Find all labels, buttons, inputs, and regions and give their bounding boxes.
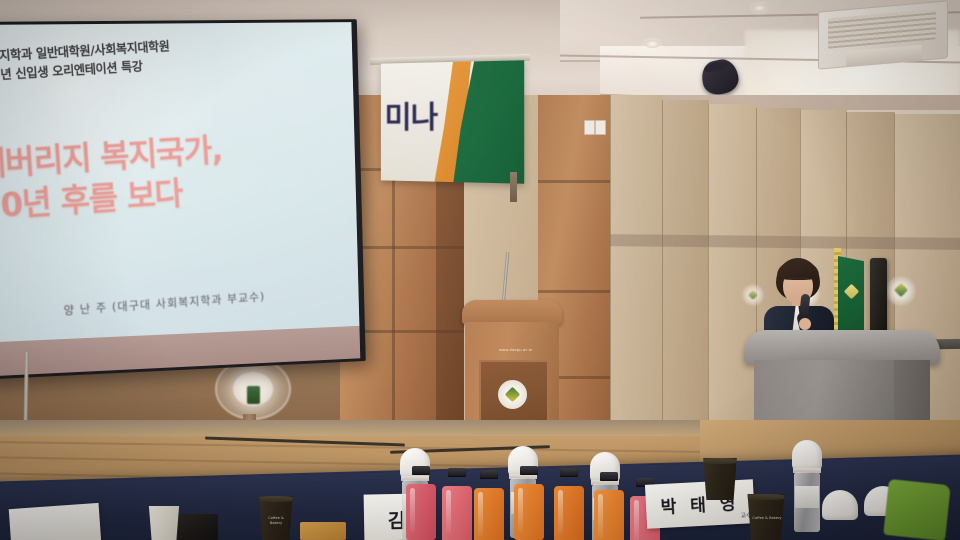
lectern-top — [462, 300, 562, 324]
lectern-url-text: www.daegu.ac.kr — [487, 348, 545, 352]
juice-bottle — [442, 468, 472, 540]
speaker-hair-fringe — [777, 260, 819, 280]
floor-speaker-column — [870, 258, 887, 340]
banner-clip — [510, 172, 517, 202]
bottle-cap — [792, 440, 822, 470]
bottle-highlight — [410, 488, 415, 532]
panel-seam — [538, 290, 610, 293]
cup-rim — [744, 494, 788, 500]
bottle-cap — [412, 466, 430, 475]
projection-screen: 사회복지학과 일반대학원/사회복지대학원 2017년 신입생 오리엔테이션 특강… — [0, 19, 366, 380]
bottle-label — [795, 486, 819, 508]
water-bottle — [820, 490, 860, 540]
cup-brand-text: Coffee & Bakery — [752, 516, 782, 521]
bottle-cap — [448, 468, 466, 477]
bottle-highlight — [446, 490, 451, 534]
bottle-highlight — [518, 488, 523, 532]
lectern-emblem-diamond — [505, 387, 521, 403]
juice-bottle — [594, 472, 624, 540]
wall-seal-crest — [247, 386, 260, 404]
wooden-lectern: www.daegu.ac.kr — [462, 300, 562, 438]
conference-hall-photo: 미나 사회복지학과 일반대학원/사회복지대학원 2017년 신입생 오리엔테이션… — [0, 0, 960, 540]
bottle-highlight — [478, 492, 483, 536]
bottle-highlight — [634, 500, 639, 540]
name-card-name: 박 태 영 — [645, 488, 754, 519]
juice-bottle — [554, 468, 584, 540]
podium-top — [744, 330, 940, 364]
juice-bottle — [514, 466, 544, 540]
bottle-cap — [600, 472, 618, 481]
bottle-cap — [520, 466, 538, 475]
name-card: 박 태 영 교수 — [645, 479, 755, 529]
banner-text: 미나 — [385, 92, 438, 137]
bottle-cap — [480, 470, 498, 479]
paper-cup: Coffee & Bakery — [256, 496, 296, 540]
bottle-cap — [822, 490, 858, 520]
bottle-highlight — [598, 494, 603, 538]
seminar-banner: 미나 — [381, 60, 524, 184]
wall-switch-plate[interactable] — [595, 120, 606, 135]
dark-box-item — [178, 514, 218, 540]
cup-rim — [256, 496, 296, 502]
paper-cup: Coffee & Bakery — [744, 494, 788, 540]
speaker-hand — [799, 318, 811, 330]
snack-item — [300, 522, 346, 540]
recessed-downlight — [645, 40, 660, 48]
wall-panel — [610, 95, 663, 425]
juice-bottle — [474, 470, 504, 540]
cup-rim — [700, 458, 740, 464]
wall-panel — [662, 100, 709, 420]
slide-surface: 사회복지학과 일반대학원/사회복지대학원 2017년 신입생 오리엔테이션 특강… — [0, 22, 359, 343]
speaker-glasses — [786, 278, 810, 286]
cup-brand-text: Coffee & Bakery — [263, 516, 289, 526]
paper-cup — [146, 506, 182, 540]
water-bottle — [790, 440, 824, 540]
lectern-emblem — [498, 380, 527, 409]
wall-emblem-disc — [886, 276, 916, 306]
slide-author: 양 난 주 (대구대 사회복지학과 부교수) — [63, 284, 337, 319]
juice-bottle — [406, 466, 436, 540]
bottle-cap — [560, 468, 578, 477]
recessed-downlight — [752, 4, 767, 12]
paper-cup — [700, 458, 740, 500]
tissue-box — [9, 503, 102, 540]
bottle-highlight — [558, 490, 563, 534]
green-bag — [883, 479, 951, 540]
panel-seam — [538, 180, 610, 183]
wall-emblem-diamond — [894, 283, 908, 297]
wall-switch-plate[interactable] — [584, 120, 595, 135]
